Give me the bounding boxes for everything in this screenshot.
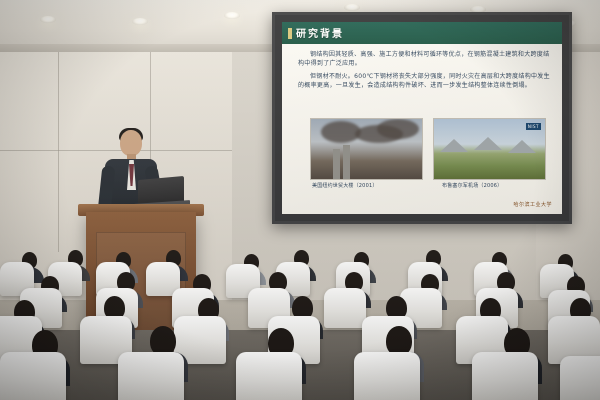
mountain-shape: [508, 140, 536, 153]
lecture-room-photo: 研究背景 钢结构因其轻质、高强、施工方便和材料可循环等优点，在钢筋混凝土建筑和大…: [0, 0, 600, 400]
slide-paragraph: 但钢材不耐火。600℃下钢材将丧失大部分强度，同时火灾在高层和大跨度结构中发生的…: [298, 72, 550, 91]
slide-paragraph: 钢结构因其轻质、高强、施工方便和材料可循环等优点，在钢筋混凝土建筑和大跨度结构中…: [298, 50, 550, 69]
smoke-plume: [377, 119, 419, 139]
chair: [0, 352, 66, 400]
wall-panel-line: [0, 150, 232, 151]
ceiling-light-icon: [224, 12, 240, 19]
tower-shape: [343, 145, 350, 179]
wall-panel-line: [58, 52, 59, 252]
presentation-slide: 研究背景 钢结构因其轻质、高强、施工方便和材料可循环等优点，在钢筋混凝土建筑和大…: [282, 22, 562, 214]
mountain-shape: [440, 139, 468, 152]
slide-footer-logo: 哈尔滨工业大学: [513, 201, 552, 208]
chair: [472, 352, 538, 400]
slide-title: 研究背景: [296, 25, 344, 40]
chair: [560, 356, 600, 400]
photo-caption: 美国纽约世贸大楼（2001）: [312, 182, 378, 189]
ceiling-light-icon: [40, 16, 56, 23]
ceiling-light-icon: [344, 4, 360, 11]
projection-screen: 研究背景 钢结构因其轻质、高强、施工方便和材料可循环等优点，在钢筋混凝土建筑和大…: [272, 12, 572, 224]
chair: [118, 352, 184, 400]
nist-badge: NIST: [526, 123, 541, 130]
slide-photo-row: NIST: [310, 118, 546, 180]
slide-title-accent-icon: [288, 28, 292, 39]
slide-body: 钢结构因其轻质、高强、施工方便和材料可循环等优点，在钢筋混凝土建筑和大跨度结构中…: [298, 50, 550, 93]
photo-caption: 布鲁塞尔军机场（2006）: [442, 182, 502, 189]
chair: [236, 352, 302, 400]
ceiling-light-icon: [132, 18, 148, 25]
tower-shape: [333, 149, 340, 179]
chair: [354, 352, 420, 400]
photo-burning-towers: [310, 118, 423, 180]
photo-airport-hangar: NIST: [433, 118, 546, 180]
head: [120, 130, 142, 156]
mountain-shape: [474, 137, 502, 150]
chair: [324, 288, 366, 328]
